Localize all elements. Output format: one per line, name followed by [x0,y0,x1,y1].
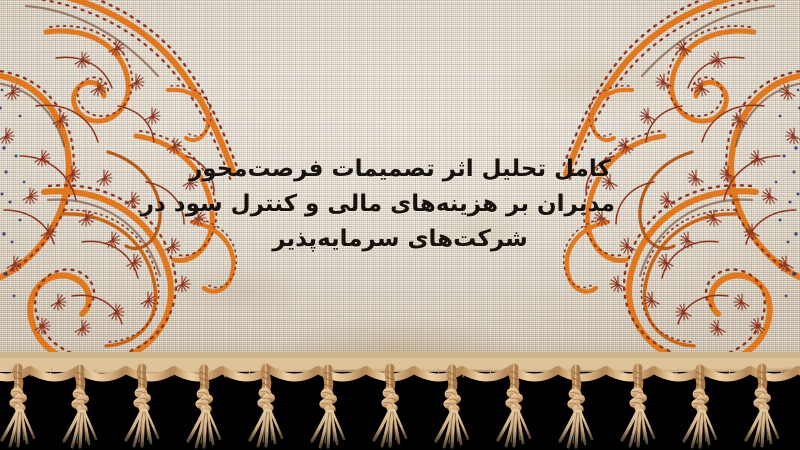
title-line-3: شرکت‌های سرمایه‌پذیر [185,222,615,257]
black-backdrop [0,372,800,450]
title-slide: کامل تحلیل اثر تصمیمات فرصت‌محور مدیران … [0,0,800,450]
title-line-1: کامل تحلیل اثر تصمیمات فرصت‌محور [185,152,615,187]
fabric-hem-band [0,346,800,372]
slide-title: کامل تحلیل اثر تصمیمات فرصت‌محور مدیران … [185,152,615,257]
title-line-2: مدیران بر هزینه‌های مالی و کنترل سود در [185,187,615,222]
